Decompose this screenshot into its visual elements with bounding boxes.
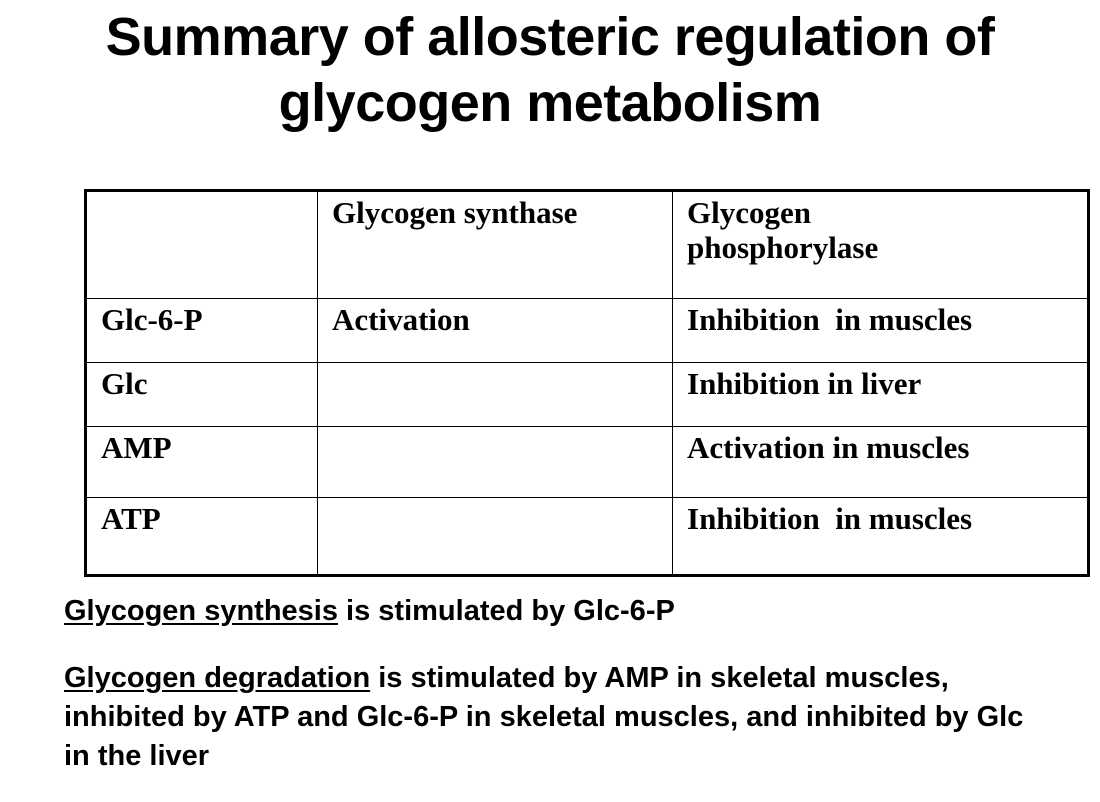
- cell-glycogen-phosphorylase: Inhibition in muscles: [673, 498, 1089, 576]
- table-container: Glycogen synthase Glycogen phosphorylase…: [84, 189, 1014, 577]
- table-row: AMP Activation in muscles: [86, 427, 1089, 498]
- cell-effector: AMP: [86, 427, 318, 498]
- cell-glycogen-phosphorylase: Activation in muscles: [673, 427, 1089, 498]
- page-title: Summary of allosteric regulation of glyc…: [0, 4, 1100, 136]
- column-header-glycogen-synthase: Glycogen synthase: [318, 191, 673, 299]
- column-header-effector: [86, 191, 318, 299]
- cell-glycogen-phosphorylase: Inhibition in liver: [673, 363, 1089, 427]
- cell-effector: Glc: [86, 363, 318, 427]
- cell-glycogen-phosphorylase: Inhibition in muscles: [673, 299, 1089, 363]
- cell-glycogen-synthase: [318, 363, 673, 427]
- note-lead-term: Glycogen degradation: [64, 662, 370, 694]
- note-lead-term: Glycogen synthesis: [64, 595, 338, 627]
- table-header-row: Glycogen synthase Glycogen phosphorylase: [86, 191, 1089, 299]
- column-header-glycogen-phosphorylase: Glycogen phosphorylase: [673, 191, 1089, 299]
- cell-effector: Glc-6-P: [86, 299, 318, 363]
- table-row: Glc Inhibition in liver: [86, 363, 1089, 427]
- note-body-text: is stimulated by Glc-6-P: [338, 595, 675, 627]
- table-row: Glc-6-P Activation Inhibition in muscles: [86, 299, 1089, 363]
- table-row: ATP Inhibition in muscles: [86, 498, 1089, 576]
- note-glycogen-degradation: Glycogen degradation is stimulated by AM…: [64, 659, 1024, 776]
- cell-glycogen-synthase: [318, 498, 673, 576]
- cell-glycogen-synthase: Activation: [318, 299, 673, 363]
- allosteric-regulation-table: Glycogen synthase Glycogen phosphorylase…: [84, 189, 1090, 577]
- cell-glycogen-synthase: [318, 427, 673, 498]
- note-glycogen-synthesis: Glycogen synthesis is stimulated by Glc-…: [64, 592, 1044, 631]
- cell-effector: ATP: [86, 498, 318, 576]
